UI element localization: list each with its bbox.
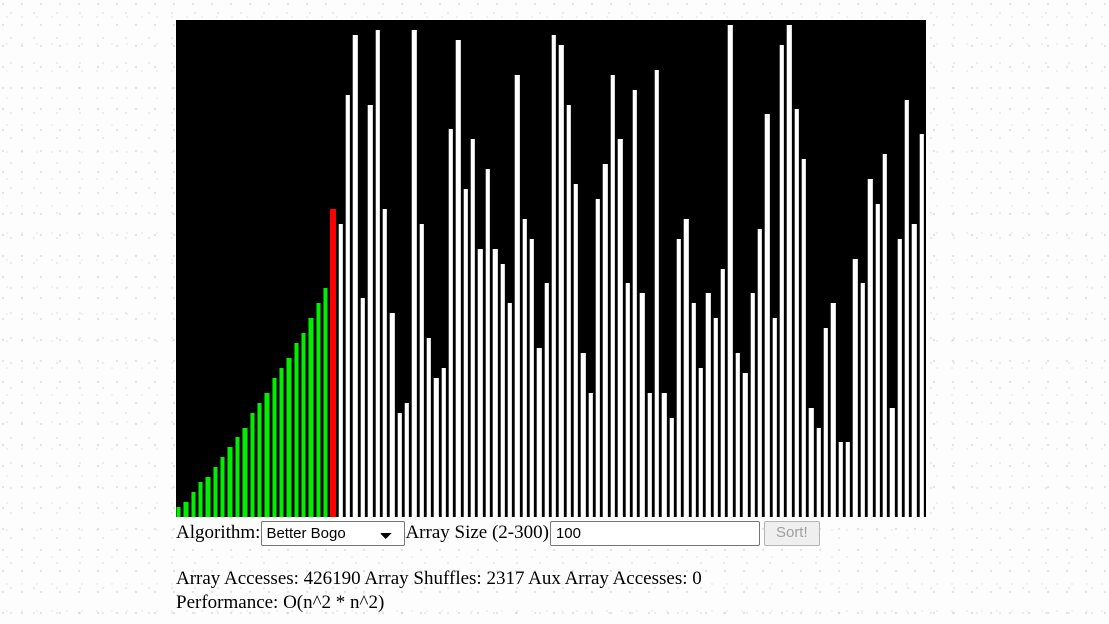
array-bar bbox=[808, 408, 813, 517]
array-bar bbox=[639, 293, 644, 517]
array-bar bbox=[551, 35, 556, 517]
status-block: Array Accesses: 426190 Array Shuffles: 2… bbox=[176, 567, 702, 615]
array-bar bbox=[426, 338, 431, 517]
array-bar bbox=[573, 184, 578, 517]
array-bar bbox=[750, 293, 755, 517]
array-bar bbox=[382, 209, 387, 517]
array-bar bbox=[595, 199, 600, 517]
array-bar bbox=[764, 114, 769, 517]
array-bar bbox=[227, 447, 232, 517]
array-bar bbox=[669, 418, 674, 517]
array-bar bbox=[213, 467, 218, 517]
array-bar bbox=[235, 437, 240, 517]
array-bar bbox=[485, 169, 490, 517]
array-bar bbox=[742, 373, 747, 517]
array-size-input[interactable] bbox=[550, 521, 760, 546]
array-bar bbox=[352, 35, 357, 517]
array-bar bbox=[536, 348, 541, 517]
array-bar bbox=[397, 413, 402, 517]
array-bar bbox=[610, 75, 615, 517]
array-bar bbox=[617, 139, 622, 517]
array-bar bbox=[411, 30, 416, 517]
array-bar bbox=[919, 134, 924, 517]
array-bar bbox=[507, 303, 512, 517]
array-bar bbox=[867, 179, 872, 517]
array-bar bbox=[375, 30, 380, 517]
array-bar bbox=[845, 442, 850, 517]
array-bar bbox=[661, 393, 666, 517]
array-bar bbox=[316, 303, 321, 517]
array-bar bbox=[544, 283, 549, 517]
array-bar bbox=[786, 25, 791, 517]
array-bar bbox=[897, 239, 902, 517]
array-bar bbox=[691, 303, 696, 517]
array-bar bbox=[654, 70, 659, 517]
array-bar bbox=[308, 318, 313, 517]
array-bar bbox=[257, 403, 262, 517]
array-bar bbox=[448, 129, 453, 517]
array-bar bbox=[757, 229, 762, 517]
array-bar bbox=[772, 318, 777, 517]
array-bar bbox=[330, 209, 335, 517]
array-bar bbox=[176, 507, 181, 517]
array-visualization-canvas bbox=[176, 20, 926, 517]
array-bar bbox=[264, 393, 269, 517]
array-bar bbox=[588, 393, 593, 517]
array-stats-line: Array Accesses: 426190 Array Shuffles: 2… bbox=[176, 567, 702, 591]
array-bar bbox=[183, 502, 188, 517]
algorithm-label: Algorithm: bbox=[176, 519, 260, 547]
array-bar bbox=[242, 428, 247, 517]
array-bar bbox=[404, 403, 409, 517]
array-bar bbox=[580, 353, 585, 517]
array-bar bbox=[367, 105, 372, 518]
array-bar bbox=[529, 239, 534, 517]
array-bar bbox=[882, 154, 887, 517]
array-bar bbox=[852, 259, 857, 517]
array-bar bbox=[198, 482, 203, 517]
array-bar bbox=[683, 219, 688, 517]
array-bar bbox=[911, 224, 916, 517]
array-bar bbox=[735, 353, 740, 517]
algorithm-select[interactable]: Better Bogo bbox=[261, 521, 405, 546]
array-bar bbox=[713, 318, 718, 517]
array-bar bbox=[514, 75, 519, 517]
array-bar bbox=[698, 368, 703, 517]
array-bar bbox=[558, 45, 563, 517]
array-bar bbox=[838, 442, 843, 517]
array-bar bbox=[191, 492, 196, 517]
array-bar bbox=[286, 358, 291, 517]
array-bar bbox=[801, 159, 806, 517]
array-bar bbox=[389, 313, 394, 517]
array-bar bbox=[220, 457, 225, 517]
array-bar bbox=[463, 189, 468, 517]
array-bar bbox=[705, 293, 710, 517]
array-bar bbox=[441, 368, 446, 517]
array-bar bbox=[250, 413, 255, 517]
array-bar bbox=[279, 368, 284, 517]
array-bar bbox=[830, 303, 835, 517]
array-bar bbox=[823, 328, 828, 517]
array-bar bbox=[904, 100, 909, 517]
array-bar bbox=[625, 283, 630, 517]
array-bar bbox=[889, 408, 894, 517]
array-bar bbox=[360, 298, 365, 517]
array-bar bbox=[566, 105, 571, 518]
array-bar bbox=[338, 224, 343, 517]
array-bar bbox=[272, 378, 277, 517]
array-bar bbox=[727, 25, 732, 517]
controls-row: Algorithm: Better Bogo Array Size (2-300… bbox=[176, 519, 820, 547]
array-bar bbox=[433, 378, 438, 517]
array-bar bbox=[500, 264, 505, 517]
array-bar bbox=[455, 40, 460, 517]
array-bar bbox=[522, 219, 527, 517]
array-bar bbox=[632, 90, 637, 517]
array-bar bbox=[345, 95, 350, 517]
array-size-label: Array Size (2-300) bbox=[405, 519, 549, 547]
array-bar bbox=[470, 139, 475, 517]
array-bar bbox=[301, 333, 306, 517]
array-bar bbox=[816, 428, 821, 517]
array-bar bbox=[419, 224, 424, 517]
array-bar bbox=[477, 249, 482, 517]
performance-line: Performance: O(n^2 * n^2) bbox=[176, 591, 702, 615]
array-bar bbox=[860, 283, 865, 517]
sorting-visualizer-page: Algorithm: Better Bogo Array Size (2-300… bbox=[0, 0, 1109, 624]
sort-button[interactable]: Sort! bbox=[764, 521, 820, 546]
array-bar bbox=[602, 164, 607, 517]
array-bar bbox=[794, 109, 799, 517]
array-bar bbox=[647, 393, 652, 517]
array-bar bbox=[492, 249, 497, 517]
array-bar bbox=[205, 477, 210, 517]
array-bar bbox=[676, 239, 681, 517]
array-bar bbox=[779, 45, 784, 517]
array-bar bbox=[294, 343, 299, 517]
array-bar bbox=[323, 288, 328, 517]
array-bar bbox=[720, 269, 725, 518]
array-bar bbox=[875, 204, 880, 517]
bars-container bbox=[176, 20, 926, 517]
